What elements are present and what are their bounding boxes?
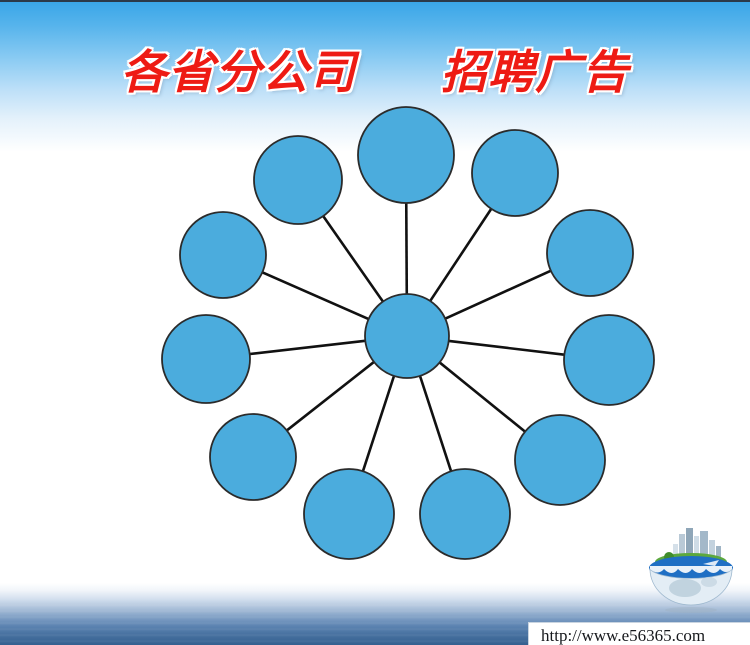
hub-and-spoke-diagram [0,2,750,645]
node-circles-group [162,107,654,559]
watermark-url: http://www.e56365.com [529,623,750,645]
spoke-line-8 [286,361,375,431]
spoke-line-6 [420,375,452,472]
satellite-node-9[interactable] [162,315,250,403]
satellite-node-10[interactable] [180,212,266,298]
continent-shape-1 [669,579,701,597]
satellite-node-8[interactable] [210,414,296,500]
logo-shadow [665,607,717,613]
spoke-line-10 [261,272,369,320]
satellite-node-6[interactable] [420,469,510,559]
satellite-node-5[interactable] [515,415,605,505]
globe-city-logo [645,524,737,614]
spoke-line-5 [439,362,526,432]
satellite-node-2[interactable] [472,130,558,216]
spoke-line-2 [430,208,492,302]
satellite-node-4[interactable] [564,315,654,405]
satellite-node-1[interactable] [358,107,454,203]
watermark-box: http://www.e56365.com [528,622,750,645]
satellite-node-7[interactable] [304,469,394,559]
satellite-node-3[interactable] [547,210,633,296]
spoke-line-1 [406,202,407,295]
slide-canvas: 各省分公司 招聘广告 [0,0,750,645]
continent-shape-2 [701,577,717,587]
spoke-line-3 [444,270,551,319]
spoke-line-4 [448,341,566,355]
spoke-line-7 [363,375,395,472]
hub-node[interactable] [365,294,449,378]
spoke-line-9 [249,341,367,354]
spoke-line-11 [323,215,384,302]
satellite-node-11[interactable] [254,136,342,224]
